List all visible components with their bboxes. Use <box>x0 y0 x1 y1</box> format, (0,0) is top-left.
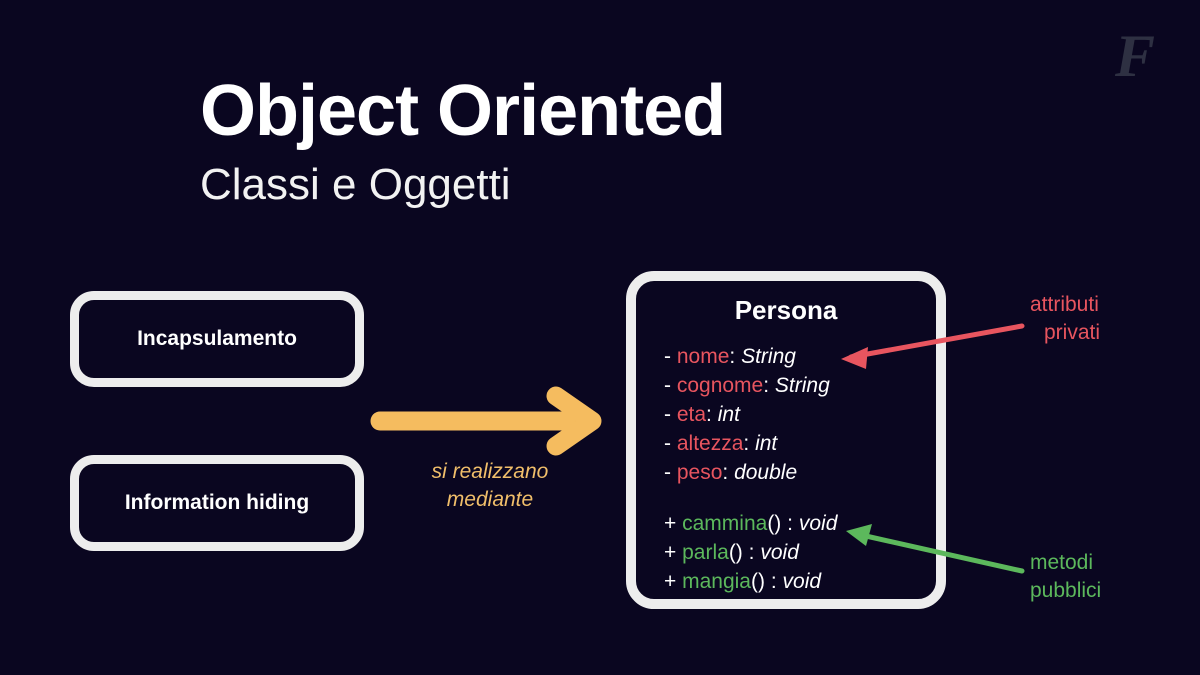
uml-attribute-name: peso <box>677 461 723 484</box>
uml-attribute-type: String <box>741 345 796 368</box>
annotation-line2: privati <box>1030 319 1100 347</box>
concept-box-incapsulamento: Incapsulamento <box>70 291 364 387</box>
uml-attribute-row: - altezza: int <box>664 429 936 458</box>
connector-caption-line1: si realizzano <box>432 460 549 483</box>
slide-canvas: F Object Oriented Classi e Oggetti Incap… <box>0 0 1200 675</box>
uml-attribute-row: - peso: double <box>664 458 936 487</box>
uml-separator: : <box>763 374 769 397</box>
uml-separator: : <box>771 570 777 593</box>
uml-visibility: + <box>664 570 676 593</box>
uml-visibility: - <box>664 461 671 484</box>
orange-connector-arrow-icon <box>380 396 592 446</box>
uml-method-parens: () <box>751 570 765 593</box>
uml-attribute-name: nome <box>677 345 730 368</box>
uml-method-row: + cammina() : void <box>664 509 936 538</box>
page-title: Object Oriented <box>200 70 725 152</box>
concept-label: Information hiding <box>125 491 309 515</box>
uml-class-name: Persona <box>636 295 936 326</box>
uml-visibility: + <box>664 541 676 564</box>
annotation-line2: pubblici <box>1030 577 1101 605</box>
uml-separator: : <box>787 512 793 535</box>
uml-method-name: parla <box>682 541 729 564</box>
concept-label: Incapsulamento <box>137 327 297 351</box>
uml-visibility: - <box>664 403 671 426</box>
uml-separator: : <box>722 461 728 484</box>
annotation-line1: metodi <box>1030 551 1093 574</box>
annotation-metodi-pubblici: metodi pubblici <box>1030 549 1101 604</box>
concept-box-information-hiding: Information hiding <box>70 455 364 551</box>
uml-method-parens: () <box>767 512 781 535</box>
uml-class-box-persona: Persona - nome: String - cognome: String… <box>626 271 946 609</box>
uml-separator: : <box>743 432 749 455</box>
page-subtitle: Classi e Oggetti <box>200 160 511 210</box>
uml-method-name: mangia <box>682 570 751 593</box>
uml-method-type: void <box>783 570 822 593</box>
uml-attribute-type: int <box>718 403 740 426</box>
uml-visibility: - <box>664 345 671 368</box>
uml-section-divider <box>664 487 936 509</box>
uml-attribute-name: eta <box>677 403 706 426</box>
uml-attribute-row: - nome: String <box>664 342 936 371</box>
annotation-attributi-privati: attributi privati <box>1030 291 1100 346</box>
uml-separator: : <box>706 403 712 426</box>
uml-attribute-name: cognome <box>677 374 763 397</box>
uml-attribute-row: - eta: int <box>664 400 936 429</box>
connector-caption-line2: mediante <box>447 488 533 511</box>
uml-separator: : <box>729 345 735 368</box>
uml-method-row: + mangia() : void <box>664 567 936 596</box>
uml-attribute-type: double <box>734 461 797 484</box>
uml-attribute-row: - cognome: String <box>664 371 936 400</box>
connector-caption: si realizzano mediante <box>390 458 590 515</box>
uml-method-name: cammina <box>682 512 767 535</box>
uml-separator: : <box>749 541 755 564</box>
uml-method-type: void <box>799 512 838 535</box>
uml-visibility: - <box>664 374 671 397</box>
uml-method-type: void <box>760 541 799 564</box>
uml-attribute-type: int <box>755 432 777 455</box>
uml-method-parens: () <box>729 541 743 564</box>
uml-attribute-type: String <box>775 374 830 397</box>
uml-attributes-list: - nome: String - cognome: String - eta: … <box>636 342 936 596</box>
uml-visibility: - <box>664 432 671 455</box>
uml-attribute-name: altezza <box>677 432 744 455</box>
annotation-line1: attributi <box>1030 293 1099 316</box>
brand-logo-f-icon: F <box>1108 26 1162 86</box>
uml-method-row: + parla() : void <box>664 538 936 567</box>
uml-visibility: + <box>664 512 676 535</box>
